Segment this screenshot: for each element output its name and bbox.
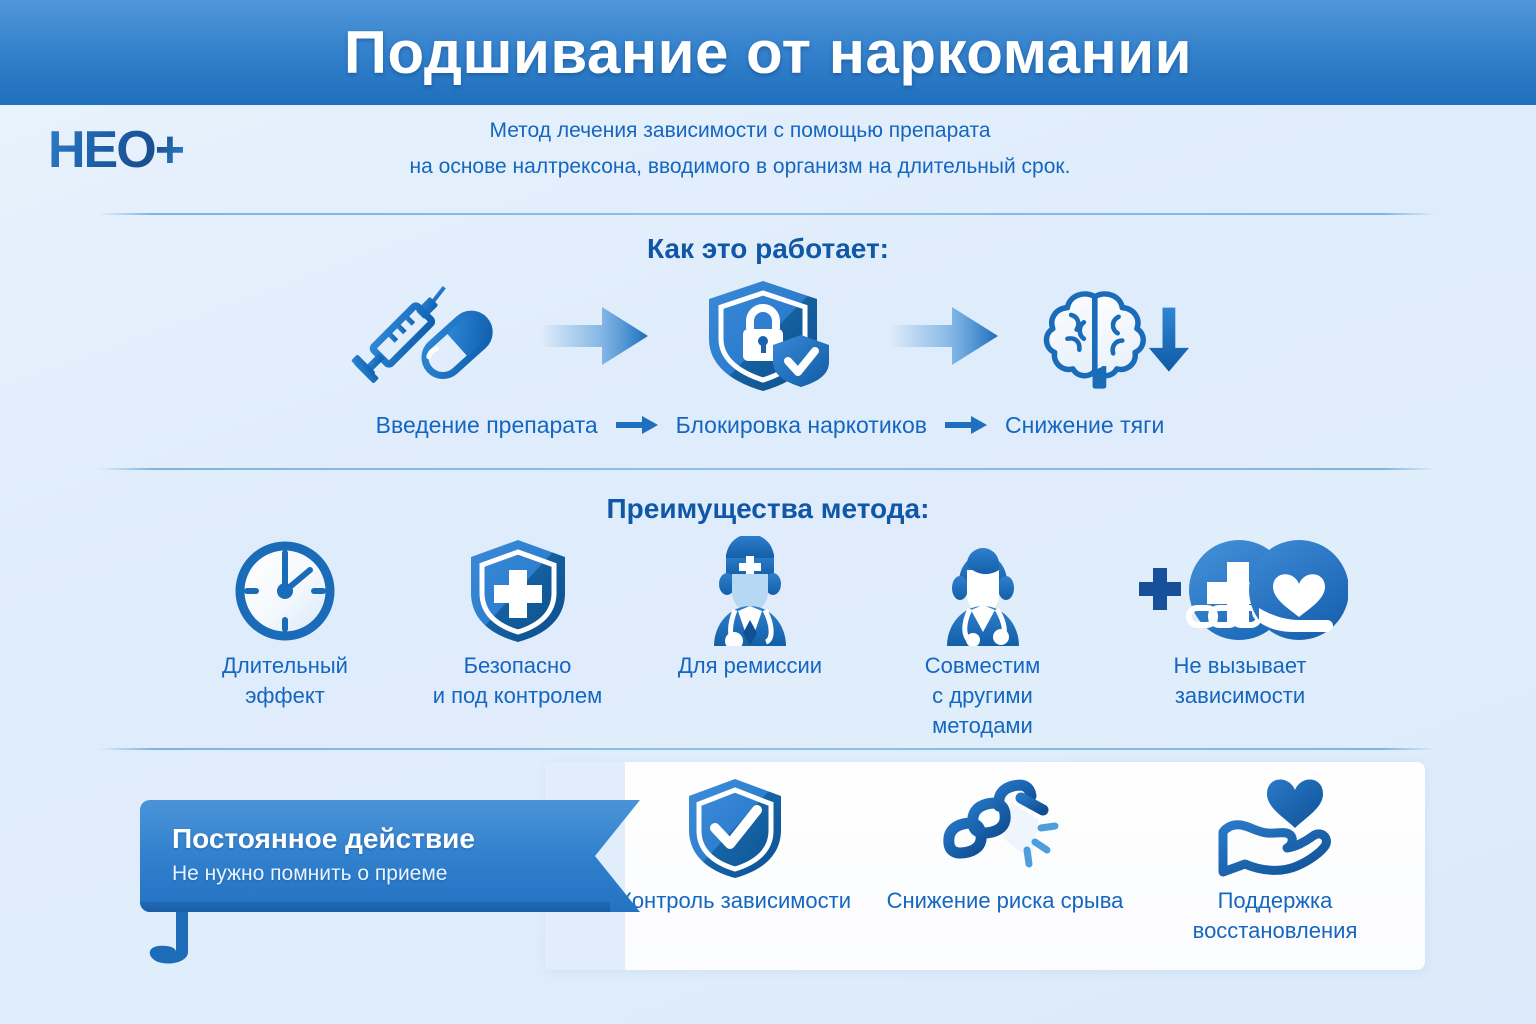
ribbon-title: Постоянное действие — [172, 820, 592, 858]
benefit-icon-1 — [234, 538, 336, 643]
ribbon-banner: Постоянное действие Не нужно помнить о п… — [140, 800, 640, 945]
outcome-label-2: Снижение риска срыва — [887, 886, 1124, 916]
step-icon-1 — [340, 278, 500, 393]
ribbon-text-block: Постоянное действие Не нужно помнить о п… — [172, 820, 592, 890]
page-title: Подшивание от наркомании — [344, 18, 1192, 87]
benefit-icon-3 — [694, 538, 806, 643]
hand-heart-icon — [1215, 776, 1335, 880]
neo-plus-logo: НЕО+ — [48, 119, 248, 181]
benefit-item-5: Не вызывает зависимости — [1115, 538, 1365, 711]
benefit-icon-2 — [467, 538, 569, 643]
outcome-item-1: Контроль зависимости — [610, 778, 860, 916]
doctor-icon — [694, 536, 806, 646]
benefit-label-4: Совместим с другими методами — [925, 651, 1040, 741]
outcome-item-3: Поддержка восстановления — [1150, 778, 1400, 946]
broken-chain-icon — [935, 776, 1075, 880]
intro-line-1: Метод лечения зависимости с помощью преп… — [290, 113, 1190, 149]
how-it-works-label-row: Введение препарата Блокировка наркотиков… — [300, 405, 1240, 445]
divider-bottom — [98, 748, 1436, 750]
step-label-3: Снижение тяги — [1005, 412, 1164, 439]
plus-chain-heart-hand-icon — [1133, 538, 1348, 643]
physician-icon — [927, 536, 1039, 646]
step-icon-2 — [690, 278, 850, 393]
benefit-label-3: Для ремиссии — [678, 651, 822, 681]
ribbon-subtitle: Не нужно помнить о приеме — [172, 858, 592, 890]
benefits-heading: Преимущества метода: — [0, 493, 1536, 525]
step-label-1: Введение препарата — [376, 412, 598, 439]
intro-line-2: на основе налтрексона, вводимого в орган… — [290, 149, 1190, 185]
logo-plus-icon: + — [155, 121, 185, 179]
clock-icon — [234, 540, 336, 642]
benefit-item-3: Для ремиссии — [650, 538, 850, 681]
brain-down-arrow-icon — [1040, 277, 1200, 395]
logo-text: НЕО — [48, 121, 155, 179]
intro-description: Метод лечения зависимости с помощью преп… — [290, 113, 1190, 185]
outcome-icon-1 — [685, 778, 785, 878]
infographic-poster: Подшивание от наркомании НЕО+ Метод лече… — [0, 0, 1536, 1024]
flow-arrow-icon-1 — [540, 301, 650, 371]
benefit-icon-4 — [927, 538, 1039, 643]
syringe-pill-icon — [345, 280, 495, 392]
benefit-icon-5 — [1133, 538, 1348, 643]
how-it-works-heading: Как это работает: — [0, 233, 1536, 265]
step-label-2: Блокировка наркотиков — [676, 412, 927, 439]
right-arrow-icon-1 — [616, 415, 658, 435]
right-arrow-icon-2 — [945, 415, 987, 435]
flow-arrow-icon-2 — [890, 301, 1000, 371]
outcome-icon-3 — [1215, 778, 1335, 878]
shield-check-icon — [685, 776, 785, 880]
intro-row: НЕО+ Метод лечения зависимости с помощью… — [0, 105, 1536, 210]
outcome-label-3: Поддержка восстановления — [1193, 886, 1358, 946]
step-icon-3 — [1040, 278, 1200, 393]
benefit-label-1: Длительный эффект — [185, 651, 385, 711]
benefit-item-4: Совместим с другими методами — [883, 538, 1083, 741]
divider-top — [98, 213, 1436, 215]
benefit-item-2: Безопасно и под контролем — [418, 538, 618, 711]
benefit-label-5: Не вызывает зависимости — [1174, 651, 1307, 711]
how-it-works-icon-row — [340, 278, 1200, 393]
benefit-item-1: Длительный эффект — [185, 538, 385, 711]
benefit-label-2: Безопасно и под контролем — [433, 651, 603, 711]
outcome-label-1: Контроль зависимости — [619, 886, 851, 916]
shield-lock-icon — [705, 277, 835, 395]
benefits-row: Длительный эффект Безопасно и под контро — [185, 538, 1365, 738]
outcome-icon-2 — [935, 778, 1075, 878]
outcome-item-2: Снижение риска срыва — [880, 778, 1130, 916]
shield-cross-icon — [467, 537, 569, 645]
outcomes-row: Контроль зависимости — [600, 778, 1410, 958]
header-bar: Подшивание от наркомании — [0, 0, 1536, 105]
divider-middle — [98, 468, 1436, 470]
